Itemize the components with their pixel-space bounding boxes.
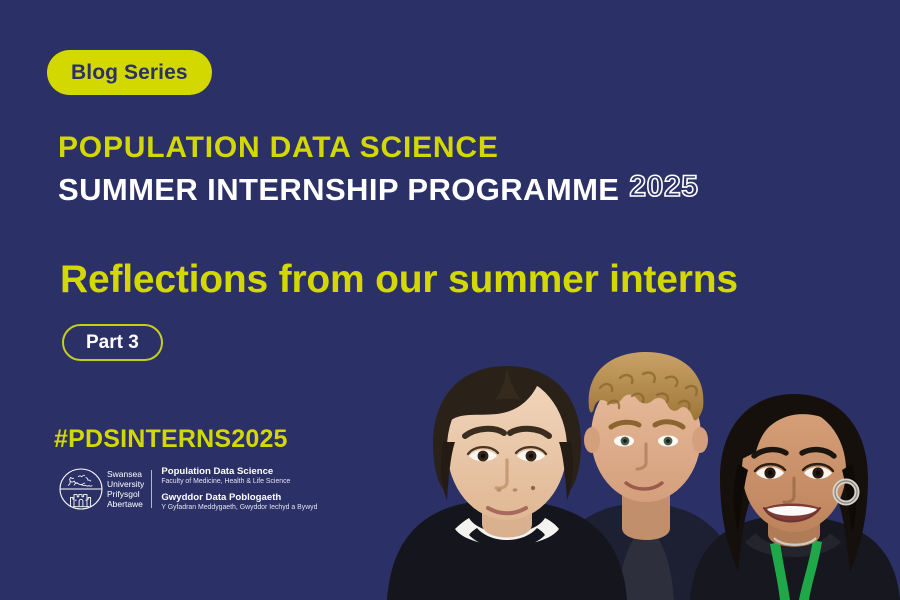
programme-title-line2: SUMMER INTERNSHIP PROGRAMME (58, 174, 619, 205)
blog-series-badge: Blog Series (47, 50, 212, 95)
intern-portrait-left (381, 332, 633, 600)
faculty-subtitle-cy: Y Gyfadran Meddygaeth, Gwyddor Iechyd a … (161, 504, 317, 513)
crest-wordmark: Swansea University Prifysgol Abertawe (107, 468, 144, 510)
programme-year: 2025 (629, 172, 698, 202)
faculty-english-group: Population Data Science Faculty of Medic… (161, 466, 317, 487)
blog-series-badge-label: Blog Series (71, 61, 188, 85)
programme-title-block: POPULATION DATA SCIENCE SUMMER INTERNSHI… (58, 133, 699, 205)
crest-name-cy-2: Abertawe (107, 499, 144, 509)
headline: Reflections from our summer interns (60, 260, 738, 299)
part-badge-label: Part 3 (86, 332, 139, 354)
faculty-title-en: Population Data Science (161, 466, 317, 478)
programme-title-line2-row: SUMMER INTERNSHIP PROGRAMME 2025 (58, 174, 699, 205)
intern-portrait-middle (540, 324, 752, 600)
swansea-university-logo-lockup: Swansea University Prifysgol Abertawe Po… (58, 466, 317, 513)
faculty-title-cy: Gwyddor Data Poblogaeth (161, 492, 317, 504)
swansea-university-crest-icon (58, 468, 104, 510)
blog-series-banner: Blog Series POPULATION DATA SCIENCE SUMM… (0, 0, 900, 600)
part-badge: Part 3 (62, 324, 163, 361)
intern-portrait-right (690, 368, 900, 600)
campaign-hashtag: #PDSINTERNS2025 (54, 425, 288, 454)
logo-divider (151, 470, 152, 508)
programme-title-line1: POPULATION DATA SCIENCE (58, 133, 699, 163)
faculty-subtitle-en: Faculty of Medicine, Health & Life Scien… (161, 478, 317, 487)
crest-name-cy-1: Prifysgol (107, 489, 144, 499)
faculty-welsh-group: Gwyddor Data Poblogaeth Y Gyfadran Meddy… (161, 492, 317, 513)
hoop-earring-icon (835, 481, 857, 503)
crest-name-en-1: Swansea (107, 469, 144, 479)
crest-name-en-2: University (107, 479, 144, 489)
faculty-wordmark: Population Data Science Faculty of Medic… (161, 466, 317, 513)
